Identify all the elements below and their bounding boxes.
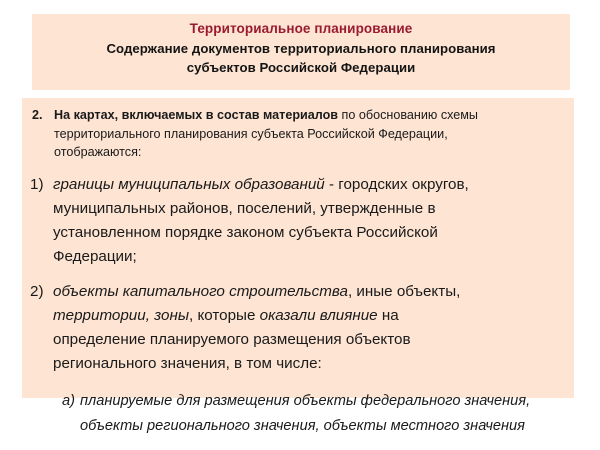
- list-item-1-paren: 1) границы муниципальных образований - г…: [22, 173, 578, 269]
- list-item-2-paren: 2) объекты капитального строительства, и…: [22, 280, 578, 376]
- list-marker-2: 2.: [32, 106, 54, 125]
- slide-subtitle-line-1: Содержание документов территориального п…: [32, 39, 570, 58]
- slide-title: Территориальное планирование: [32, 20, 570, 37]
- list-item-2: 2. На картах, включаемых в состав матери…: [22, 106, 578, 162]
- list-item-a: а) планируемые для размещения объекты фе…: [22, 389, 578, 439]
- slide-root: Территориальное планирование Содержание …: [0, 0, 600, 450]
- list-text-a: планируемые для размещения объекты федер…: [80, 389, 570, 439]
- list-marker-2-paren: 2): [30, 280, 53, 304]
- list-text-2: На картах, включаемых в состав материало…: [54, 106, 524, 162]
- list-text-1-italic: границы муниципальных образований: [53, 176, 325, 193]
- slide-subtitle: Содержание документов территориального п…: [32, 39, 570, 77]
- list-marker-a: а): [62, 389, 80, 414]
- list-text-2-seg2: , иные объекты,: [348, 283, 460, 300]
- list-text-2-seg3: территории, зоны: [53, 307, 189, 324]
- content-body: 2. На картах, включаемых в состав матери…: [22, 98, 578, 439]
- list-marker-1-paren: 1): [30, 173, 53, 197]
- list-text-2-seg4: , которые: [189, 307, 260, 324]
- list-text-1-paren: границы муниципальных образований - горо…: [53, 173, 493, 269]
- list-text-2-seg5: оказали влияние: [260, 307, 378, 324]
- list-text-2-seg1: объекты капитального строительства: [53, 283, 348, 300]
- title-panel: Территориальное планирование Содержание …: [32, 14, 570, 90]
- slide-subtitle-line-2: субъектов Российской Федерации: [32, 58, 570, 77]
- list-text-2-paren: объекты капитального строительства, иные…: [53, 280, 493, 376]
- list-text-2-bold: На картах, включаемых в состав материало…: [54, 108, 338, 122]
